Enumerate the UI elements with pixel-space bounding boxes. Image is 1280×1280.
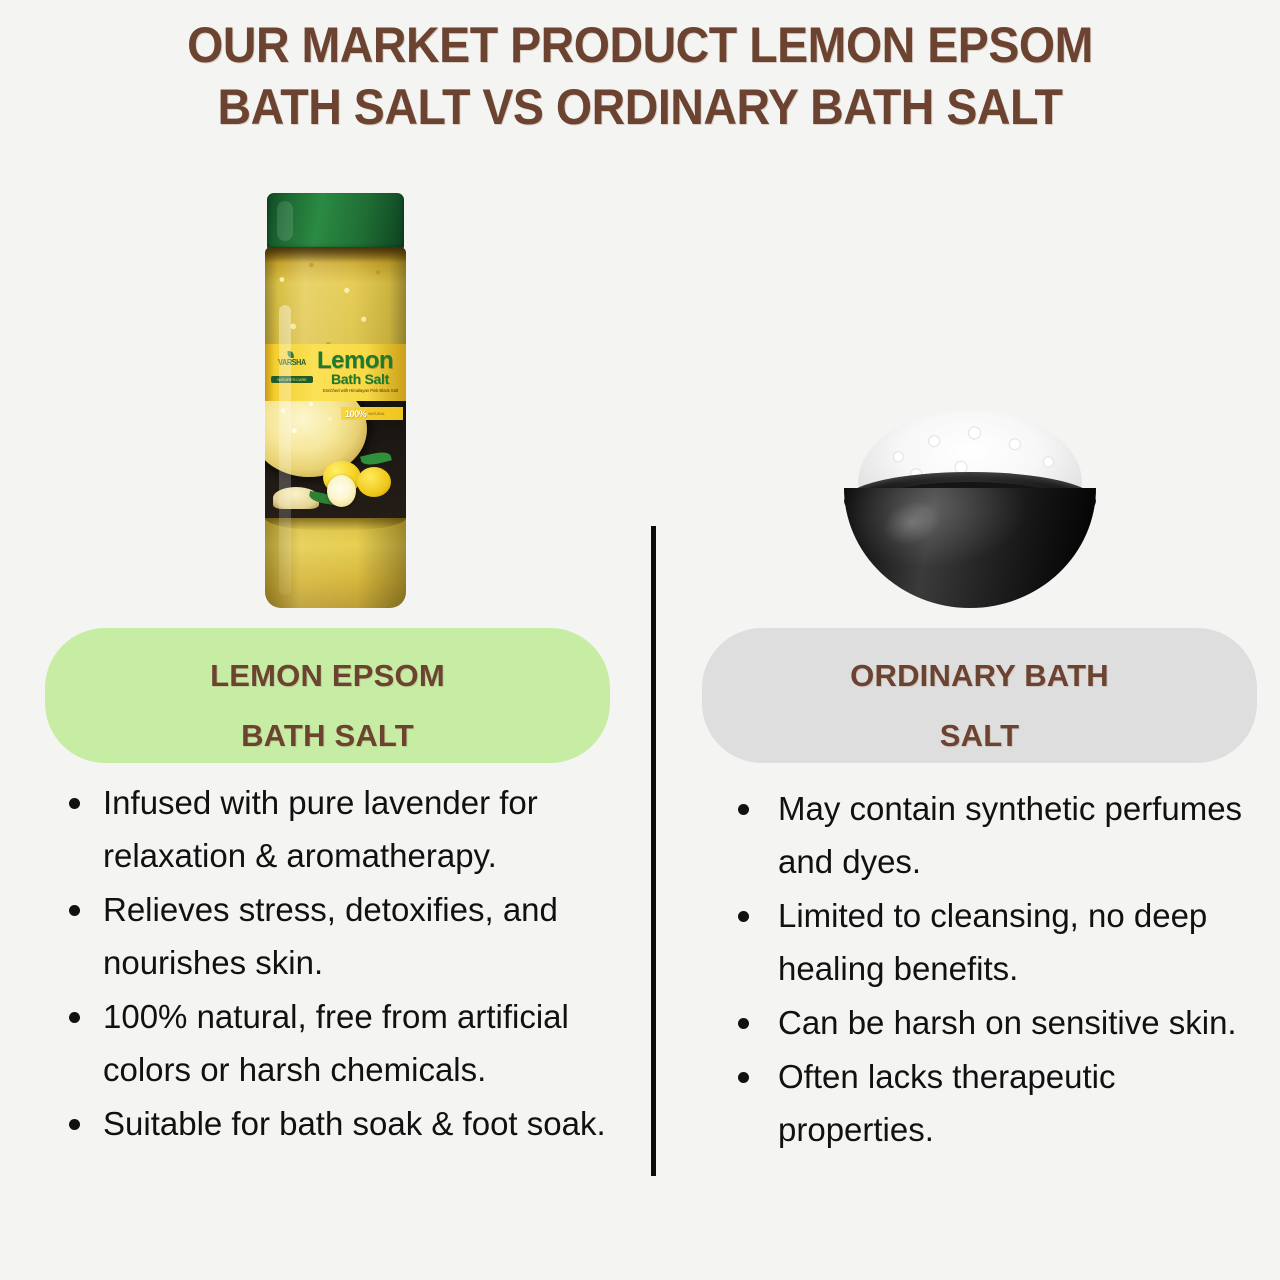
list-item: Infused with pure lavender for relaxatio… xyxy=(45,776,610,882)
badge-text: NATURAL xyxy=(368,412,385,416)
natural-badge: 100% NATURAL xyxy=(341,407,403,420)
header-line-1: LEMON EPSOM xyxy=(55,646,600,706)
bottle-label-band: VARSHA NATURE'S CARE Lemon Bath Salt Enr… xyxy=(265,344,406,401)
label-tagline: Enriched with Himalayan Pink Black Salt xyxy=(323,388,398,393)
page-title: OUR MARKET PRODUCT LEMON EPSOM BATH SALT… xyxy=(45,14,1235,138)
list-item: Can be harsh on sensitive skin. xyxy=(702,996,1257,1049)
column-lemon-epsom: LEMON EPSOM BATH SALT Infused with pure … xyxy=(45,628,610,1151)
badge-number: 100% xyxy=(345,409,366,419)
bottle-body: VARSHA NATURE'S CARE Lemon Bath Salt Enr… xyxy=(265,247,406,608)
bottle-cap xyxy=(267,193,404,251)
header-pill-lemon-epsom: LEMON EPSOM BATH SALT xyxy=(45,628,610,763)
lemon-epsom-benefits-list: Infused with pure lavender for relaxatio… xyxy=(45,776,610,1150)
bottle-lower-salt xyxy=(265,518,406,608)
list-item: Suitable for bath soak & foot soak. xyxy=(45,1097,610,1150)
brand-logo-text: VARSHA xyxy=(278,358,306,367)
lemon-bath-salt-bottle-image: VARSHA NATURE'S CARE Lemon Bath Salt Enr… xyxy=(265,193,406,608)
page-title-line-1: OUR MARKET PRODUCT LEMON EPSOM xyxy=(45,14,1235,76)
leaf-icon xyxy=(288,351,294,358)
ordinary-salt-bowl-image xyxy=(830,410,1110,610)
list-item: Often lacks therapeutic properties. xyxy=(702,1050,1257,1156)
header-line-1: ORDINARY BATH xyxy=(712,646,1247,706)
label-photo-lemon-b xyxy=(357,467,391,497)
list-item: Relieves stress, detoxifies, and nourish… xyxy=(45,883,610,989)
page-title-line-2: BATH SALT VS ORDINARY BATH SALT xyxy=(45,76,1235,138)
header-line-2: SALT xyxy=(712,706,1247,766)
brand-logo-icon: VARSHA xyxy=(276,350,308,375)
label-photo: 100% NATURAL xyxy=(265,401,406,518)
brand-subtitle: NATURE'S CARE xyxy=(271,376,313,383)
list-item: May contain synthetic perfumes and dyes. xyxy=(702,782,1257,888)
label-product-type: Bath Salt xyxy=(331,371,389,387)
list-item: 100% natural, free from artificial color… xyxy=(45,990,610,1096)
bottle-neck-shadow xyxy=(265,247,406,263)
product-image-stage: VARSHA NATURE'S CARE Lemon Bath Salt Enr… xyxy=(0,160,1280,625)
label-photo-leaf-a-icon xyxy=(360,450,392,468)
ordinary-salt-drawbacks-list: May contain synthetic perfumes and dyes.… xyxy=(702,782,1257,1156)
header-line-2: BATH SALT xyxy=(55,706,600,766)
bowl-body xyxy=(844,488,1096,608)
header-pill-ordinary-salt: ORDINARY BATH SALT xyxy=(702,628,1257,763)
label-photo-lemon-halved xyxy=(327,475,356,507)
list-item: Limited to cleansing, no deep healing be… xyxy=(702,889,1257,995)
column-ordinary-salt: ORDINARY BATH SALT May contain synthetic… xyxy=(702,628,1257,1157)
comparison-columns: LEMON EPSOM BATH SALT Infused with pure … xyxy=(0,628,1280,1278)
